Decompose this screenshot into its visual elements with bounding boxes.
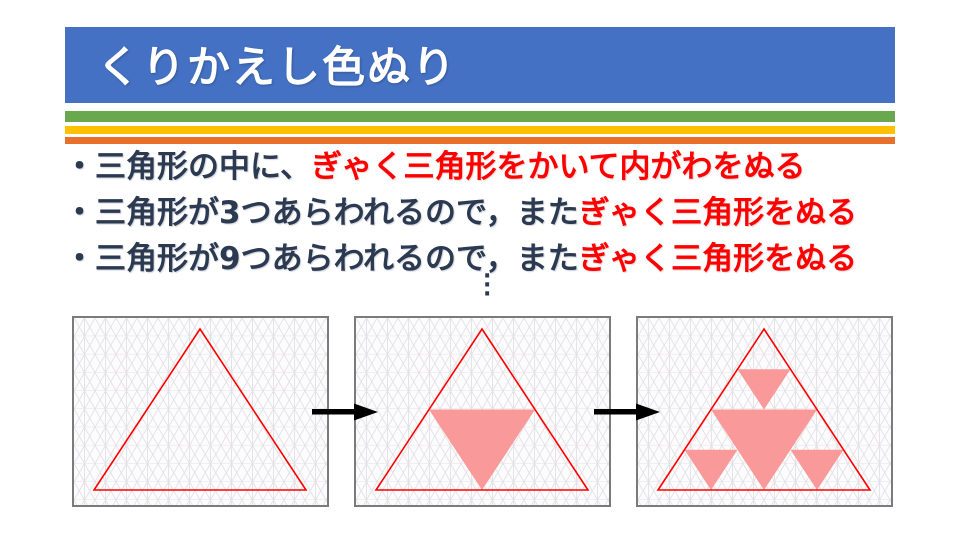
figure-stage-0 [74,318,327,505]
bullet-line-2: ・三角形が3つあらわれるので，またぎゃく三角形をぬる [64,190,944,236]
bullet-1-dark-text: ・三角形の中に、 [64,149,311,185]
gold-stripe [65,126,895,134]
bullet-1-red-text: ぎゃく三角形をかいて内がわをぬる [311,149,805,185]
arrow-step-2-to-3 [594,401,660,423]
green-stripe [65,111,895,122]
arrow-right-icon [594,401,660,423]
arrow-right-icon [312,401,378,423]
bullet-list: ・三角形の中に、ぎゃく三角形をかいて内がわをぬる ・三角形が3つあらわれるので，… [64,144,944,282]
bullet-3-red-text: ぎゃく三角形をぬる [579,241,857,277]
panel-step-2 [354,316,611,507]
bullet-line-1: ・三角形の中に、ぎゃく三角形をかいて内がわをぬる [64,144,944,190]
bullet-line-3: ・三角形が9つあらわれるので，またぎゃく三角形をぬる [64,236,944,282]
bullet-2-dark-text: ・三角形が3つあらわれるので，また [64,195,579,231]
arrow-step-1-to-2 [312,401,378,423]
figure-stage-2 [638,318,891,505]
panel-step-3 [636,316,893,507]
panel-step-1 [72,316,329,507]
bullet-3-dark-text: ・三角形が9つあらわれるので，また [64,241,579,277]
ellipsis-dot-3: · [483,290,491,299]
bullet-2-red-text: ぎゃく三角形をぬる [579,195,857,231]
vertical-ellipsis: · · · [483,272,491,299]
figure-stage-1 [356,318,609,505]
slide-canvas: くりかえし色ぬり ・三角形の中に、ぎゃく三角形をかいて内がわをぬる ・三角形が3… [0,0,960,540]
page-title: くりかえし色ぬり [97,33,457,95]
title-banner: くりかえし色ぬり [65,27,895,103]
orange-stripe [65,137,895,144]
panel-1-grid [74,318,327,505]
